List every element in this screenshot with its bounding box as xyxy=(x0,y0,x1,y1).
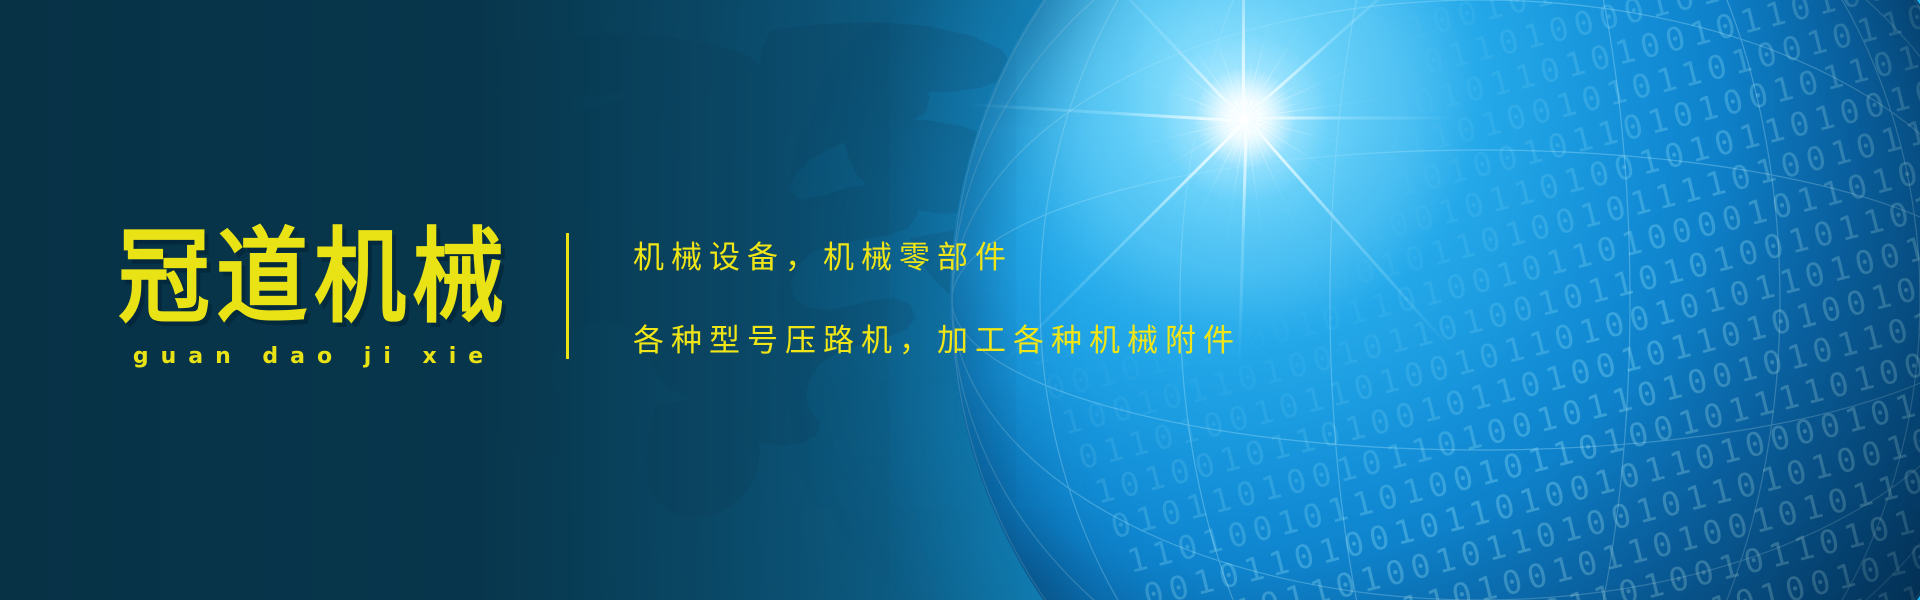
tagline-secondary: 各种型号压路机，加工各种机械附件 xyxy=(633,315,1241,360)
tagline-primary: 机械设备，机械零部件 xyxy=(633,232,1241,277)
promotional-banner: 1001011010010110100101101010010110100101… xyxy=(0,0,1920,600)
logo-pinyin: guan dao ji xie xyxy=(133,344,495,369)
banner-content: 冠道机械 guan dao ji xie 机械设备，机械零部件 各种型号压路机，… xyxy=(118,0,1241,600)
logo-chinese-name: 冠道机械 xyxy=(118,226,510,329)
company-logo: 冠道机械 guan dao ji xie xyxy=(118,232,544,369)
tagline-group: 机械设备，机械零部件 各种型号压路机，加工各种机械附件 xyxy=(633,232,1241,360)
vertical-yellow-divider xyxy=(566,233,569,359)
